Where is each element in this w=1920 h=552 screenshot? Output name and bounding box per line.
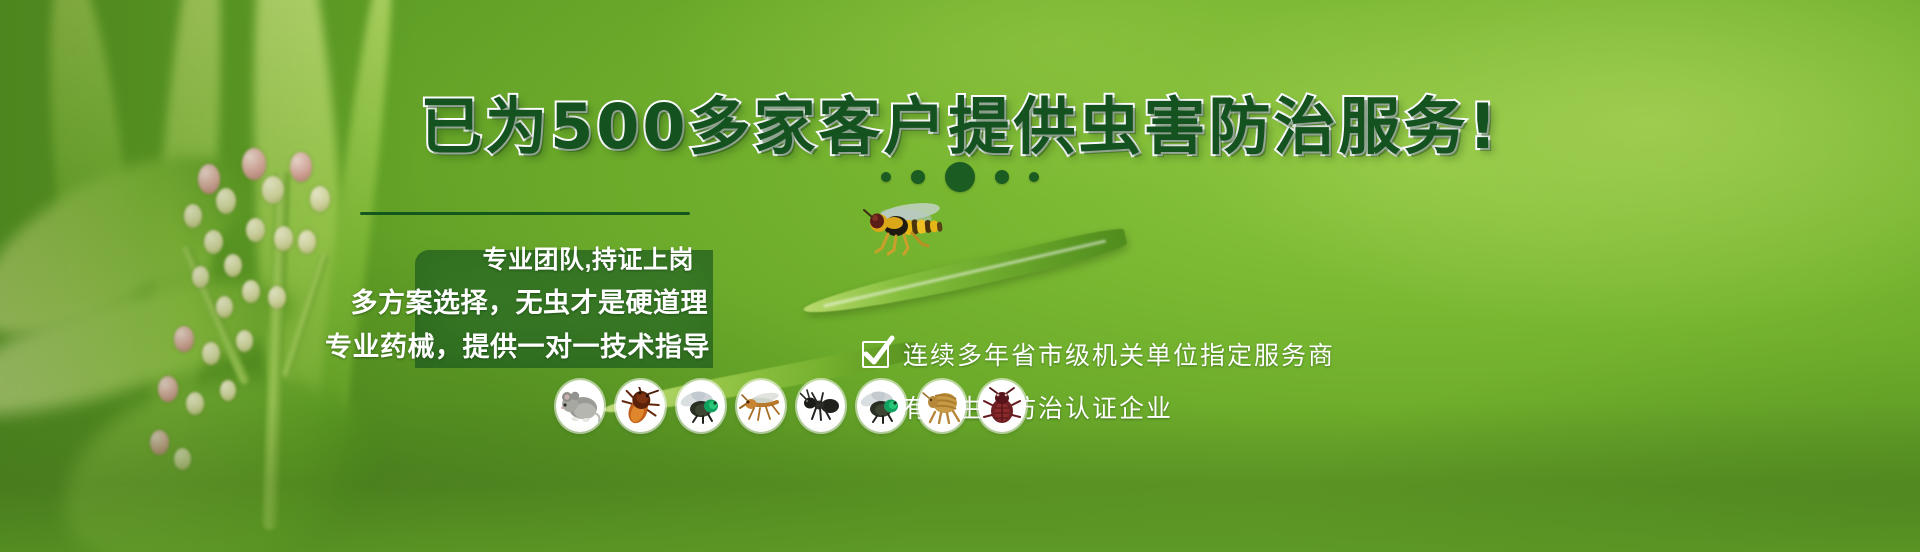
pest-control-banner: 已为500多家客户提供虫害防治服务! 专业团队,持证上岗 多方案选择，无虫才是硬… bbox=[0, 0, 1920, 552]
checkbox-checked-icon bbox=[862, 341, 889, 368]
mosquito-icon[interactable] bbox=[737, 380, 785, 432]
horizontal-rule bbox=[360, 212, 690, 215]
decorative-dot bbox=[995, 170, 1009, 184]
decorative-dot bbox=[881, 172, 891, 182]
decorative-dot bbox=[945, 162, 975, 192]
cockroach-icon[interactable] bbox=[616, 380, 664, 432]
banner-headline: 已为500多家客户提供虫害防治服务! bbox=[0, 76, 1920, 166]
ant-icon[interactable] bbox=[797, 380, 845, 432]
feature-panel bbox=[415, 250, 713, 368]
hoverfly-icon bbox=[848, 196, 958, 266]
bedbug-icon[interactable] bbox=[978, 380, 1026, 432]
pest-icon-row bbox=[556, 375, 1026, 437]
certification-label: 连续多年省市级机关单位指定服务商 bbox=[903, 336, 1335, 372]
banner-headline-text: 已为500多家客户提供虫害防治服务! bbox=[420, 90, 1500, 163]
certification-item-1: 连续多年省市级机关单位指定服务商 bbox=[862, 336, 1335, 372]
flea-icon[interactable] bbox=[918, 380, 966, 432]
fly-icon[interactable] bbox=[677, 380, 725, 432]
fly-icon[interactable] bbox=[857, 380, 905, 432]
decorative-dot bbox=[1029, 172, 1039, 182]
decorative-dots bbox=[0, 162, 1920, 192]
mouse-icon[interactable] bbox=[556, 380, 604, 432]
decorative-dot bbox=[911, 170, 925, 184]
